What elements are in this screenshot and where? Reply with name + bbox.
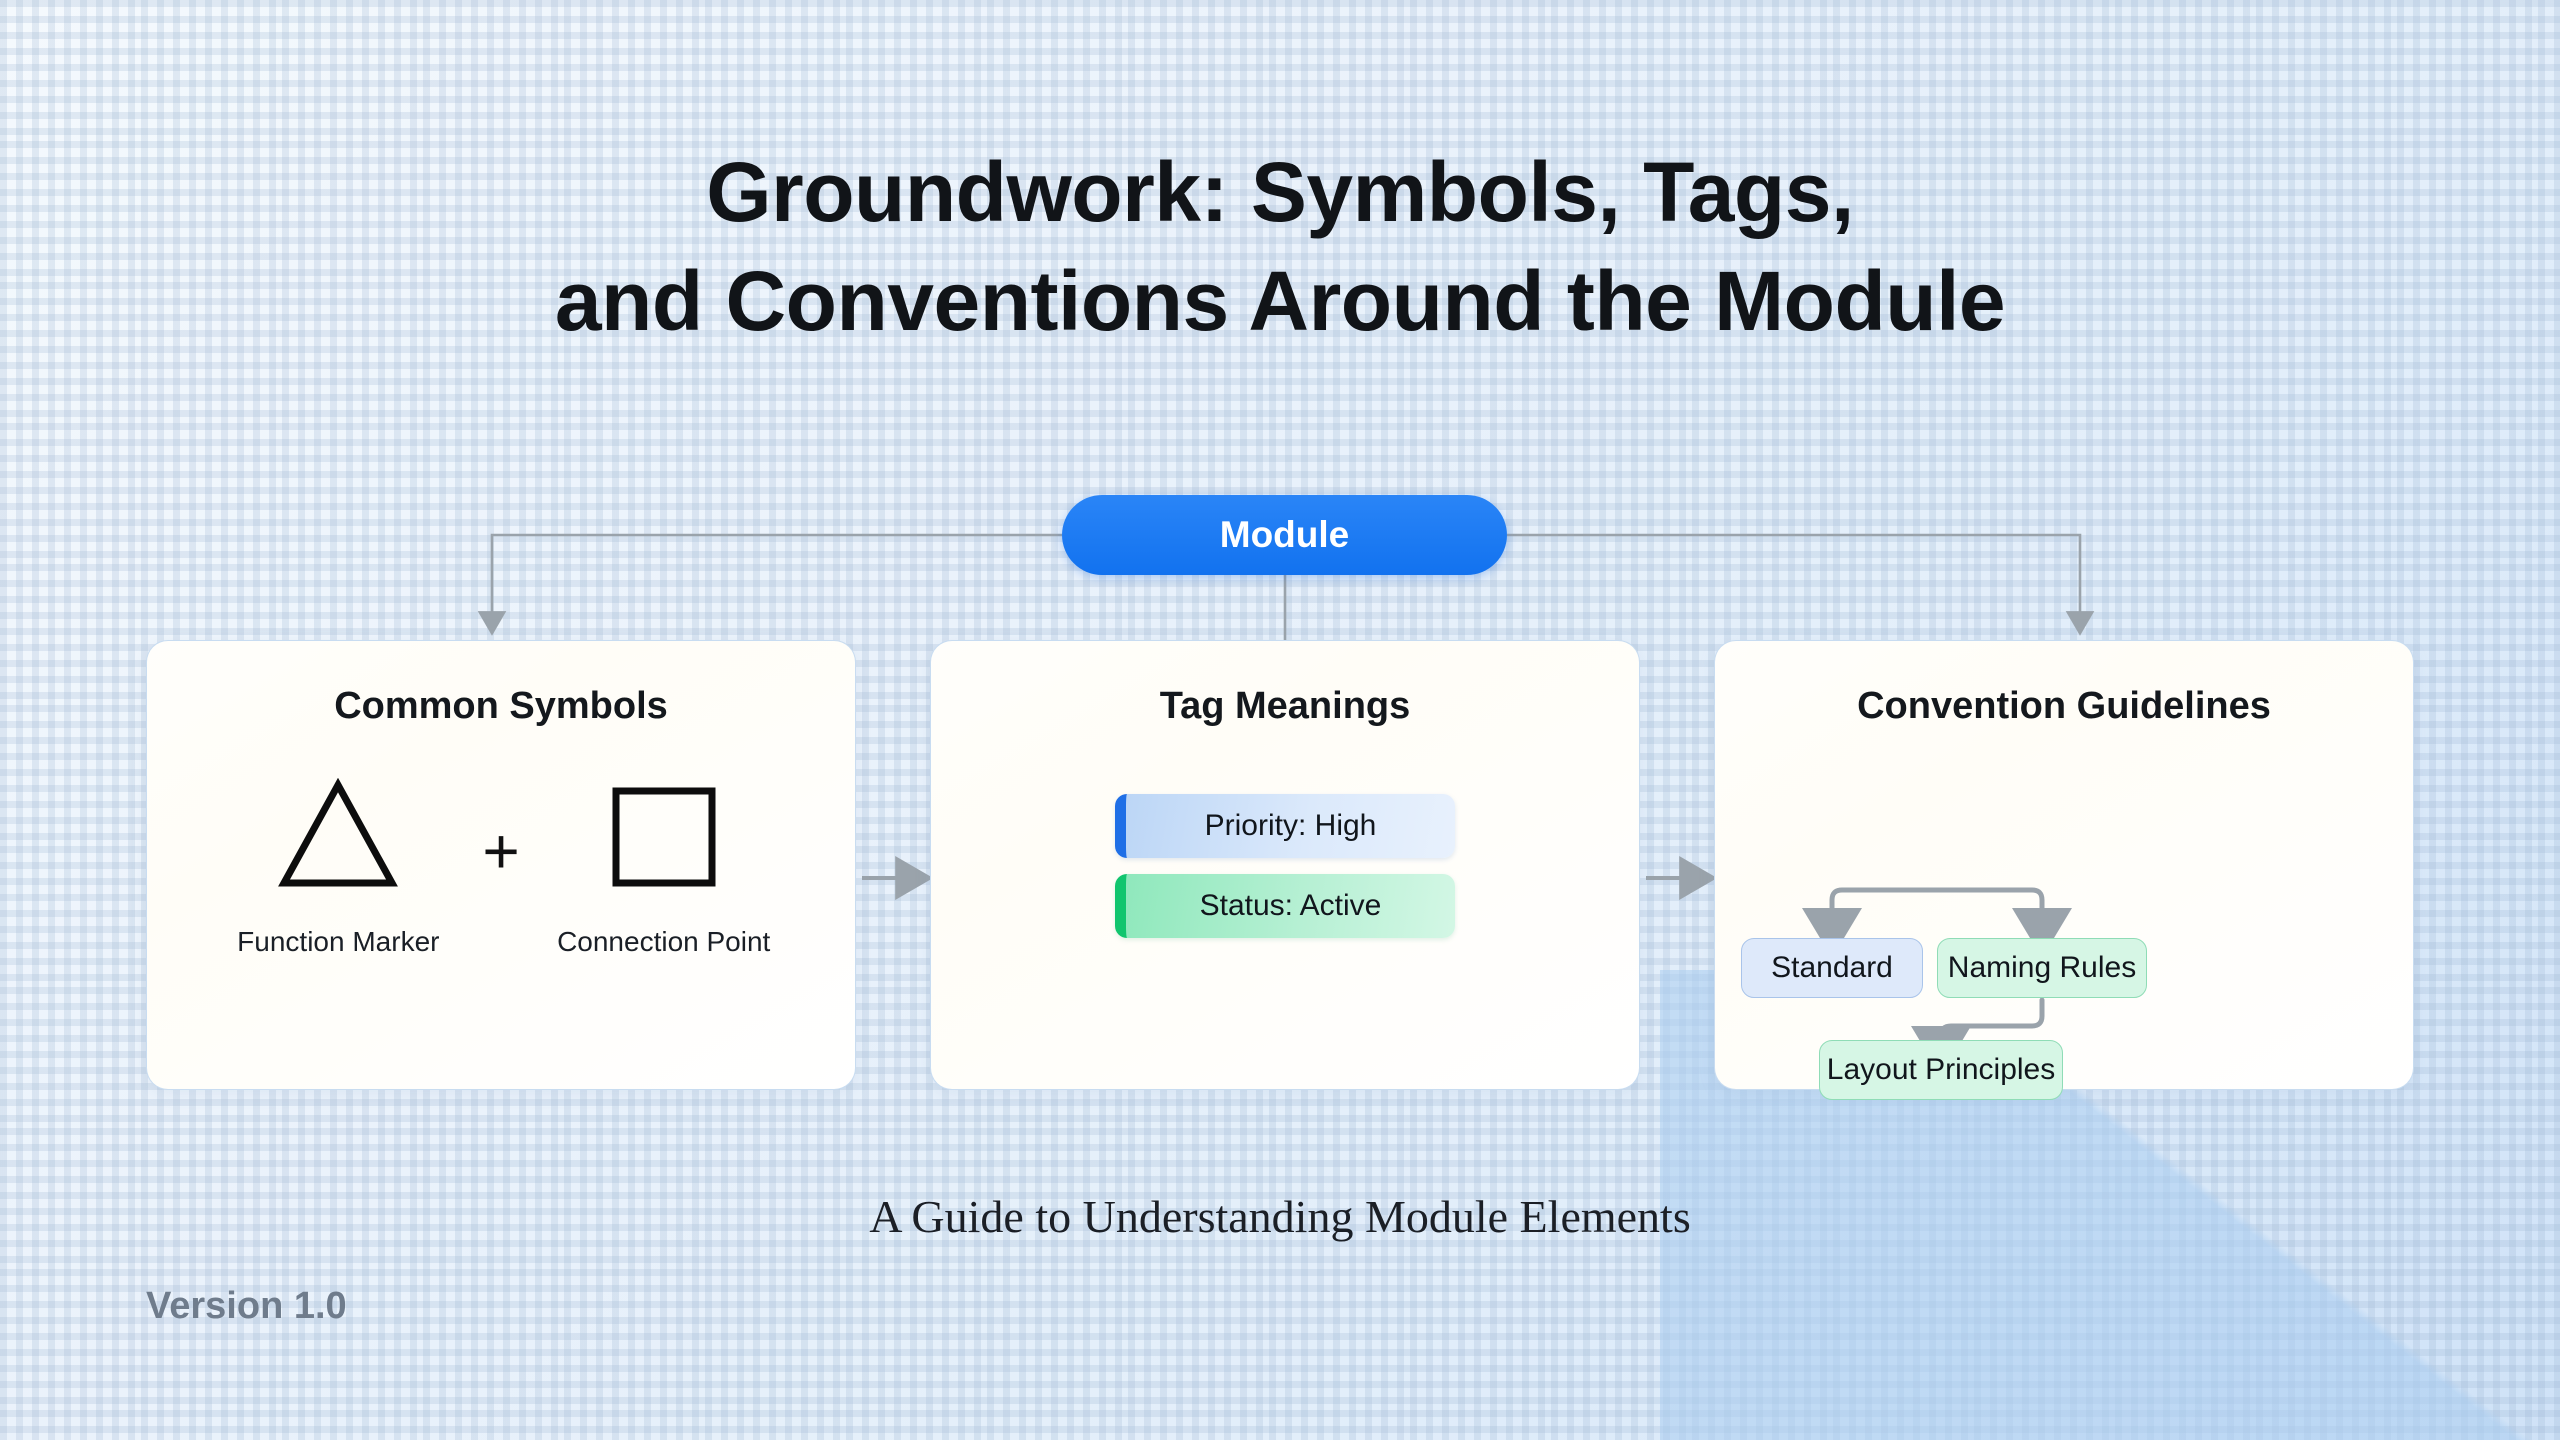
page-title: Groundwork: Symbols, Tags, and Conventio… [0,138,2560,356]
symbol-label-connection-point: Connection Point [557,926,770,958]
square-outline-icon [611,772,717,890]
triangle-outline-icon [278,772,398,890]
card-title-convention-guidelines: Convention Guidelines [1715,685,2413,728]
conv-node-naming-rules[interactable]: Naming Rules [1937,938,2147,998]
symbol-label-function-marker: Function Marker [237,926,439,958]
conv-node-standard[interactable]: Standard [1741,938,1923,998]
tag-priority-high[interactable]: Priority: High [1115,794,1455,858]
conv-node-label-naming-rules: Naming Rules [1948,951,2136,985]
page-title-line-1: Groundwork: Symbols, Tags, [706,145,1854,239]
card-common-symbols[interactable]: Common Symbols Function Marker + Connect… [146,640,856,1090]
symbol-function-marker[interactable]: Function Marker [238,772,438,958]
page-title-line-2: and Conventions Around the Module [0,247,2560,356]
tag-label-priority: Priority: High [1205,809,1377,843]
module-root-node[interactable]: Module [1062,495,1507,575]
conv-node-label-layout-principles: Layout Principles [1827,1053,2055,1087]
card-title-tag-meanings: Tag Meanings [931,685,1639,728]
connector-bracket-top [1832,890,2042,933]
plus-icon: + [482,819,519,911]
tag-label-status: Status: Active [1200,889,1382,923]
tag-list: Priority: High Status: Active [931,794,1639,938]
symbol-row: Function Marker + Connection Point [147,772,855,958]
subtitle: A Guide to Understanding Module Elements [0,1190,2560,1243]
slide-canvas: Groundwork: Symbols, Tags, and Conventio… [0,0,2560,1440]
symbol-connection-point[interactable]: Connection Point [564,772,764,958]
version-label: Version 1.0 [146,1285,347,1328]
card-title-common-symbols: Common Symbols [147,685,855,728]
card-convention-guidelines[interactable]: Convention Guidelines Standard Nami [1714,640,2414,1090]
connector-module-to-convention [1507,535,2080,622]
tag-status-active[interactable]: Status: Active [1115,874,1455,938]
card-tag-meanings[interactable]: Tag Meanings Priority: High Status: Acti… [930,640,1640,1090]
module-root-label: Module [1220,514,1349,556]
convention-node-graph: Standard Naming Rules Layout Principles [1715,728,2413,1176]
connector-module-to-symbols [492,535,1062,622]
conv-node-label-standard: Standard [1771,951,1893,985]
conv-node-layout-principles[interactable]: Layout Principles [1819,1040,2063,1100]
